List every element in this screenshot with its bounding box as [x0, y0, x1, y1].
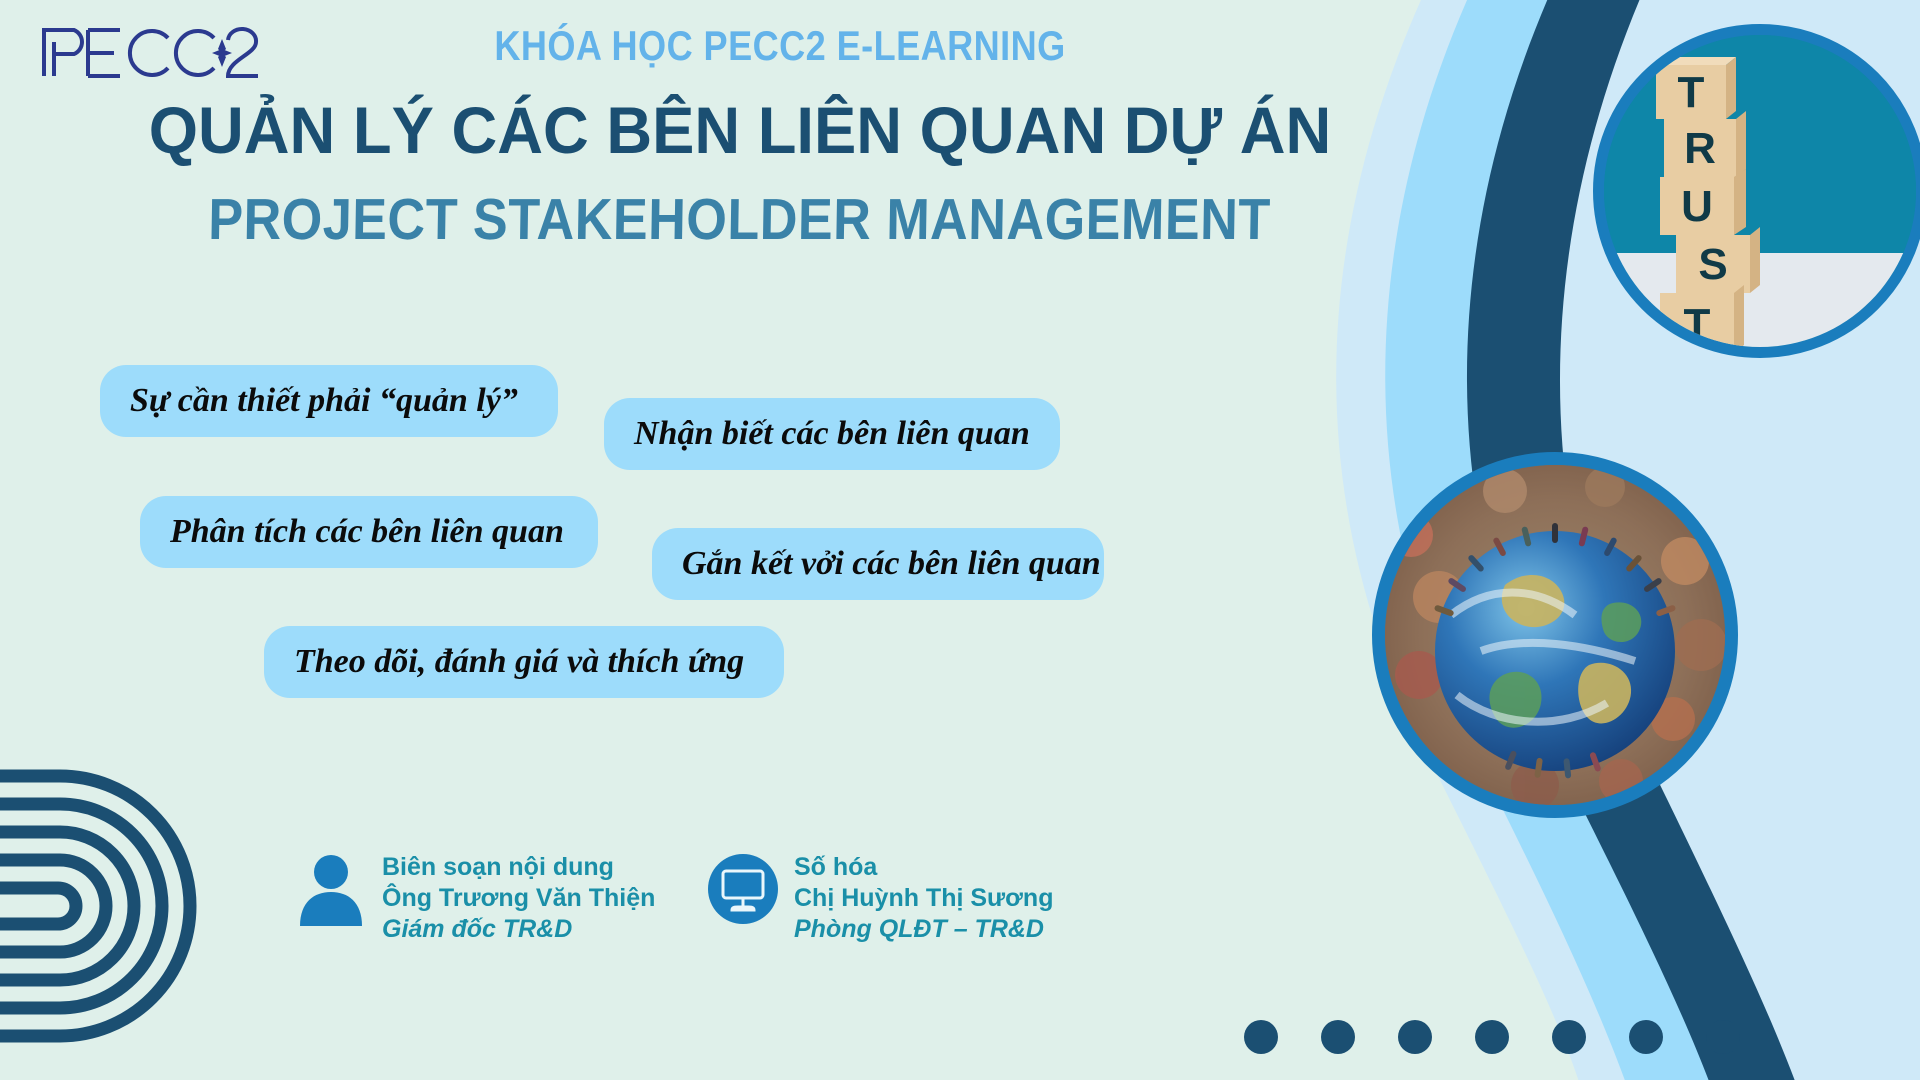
pecc2-logo	[36, 20, 266, 82]
topic-pill-monitor[interactable]: Theo dõi, đánh giá và thích ứng	[264, 626, 784, 698]
topic-pill-engage[interactable]: Gắn kết vởi các bên liên quan	[652, 528, 1104, 600]
topic-pill-label: Nhận biết các bên liên quan	[634, 415, 1030, 453]
topic-pill-label: Sự cần thiết phải “quản lý”	[130, 382, 518, 420]
trust-block-t2: T	[1660, 285, 1744, 347]
trust-block-s: S	[1676, 227, 1760, 293]
globe-surrounded-by-people-photo	[1372, 452, 1738, 818]
topic-pill-label: Theo dõi, đánh giá và thích ứng	[294, 643, 744, 681]
trust-block-u: U	[1660, 169, 1746, 235]
trust-wooden-blocks-photo: T R U S	[1593, 24, 1920, 358]
credit-name: Ông Trương Văn Thiện	[382, 883, 655, 914]
decorative-dot	[1475, 1020, 1509, 1054]
four-point-star-icon	[212, 39, 232, 67]
credit-role: Số hóa	[794, 852, 1053, 883]
topic-pill-analyze[interactable]: Phân tích các bên liên quan	[140, 496, 598, 568]
trust-block-r: R	[1664, 111, 1746, 177]
slide-canvas: KHÓA HỌC PECC2 E-LEARNING QUẢN LÝ CÁC BÊ…	[0, 0, 1920, 1080]
svg-text:T: T	[1684, 300, 1711, 347]
credit-content-author: Biên soạn nội dung Ông Trương Văn Thiện …	[296, 852, 655, 945]
decorative-dot	[1398, 1020, 1432, 1054]
credit-digitization: Số hóa Chị Huỳnh Thị Sương Phòng QLĐT – …	[708, 852, 1053, 945]
svg-text:U: U	[1681, 182, 1713, 231]
person-icon	[296, 852, 366, 926]
topic-pill-identify[interactable]: Nhận biết các bên liên quan	[604, 398, 1060, 470]
credit-text-block: Số hóa Chị Huỳnh Thị Sương Phòng QLĐT – …	[794, 852, 1053, 945]
credit-department: Giám đốc TR&D	[382, 914, 655, 945]
monitor-icon	[708, 852, 778, 926]
topic-pill-label: Phân tích các bên liên quan	[170, 513, 564, 551]
bottom-dot-row	[1244, 1020, 1740, 1054]
page-title-vi: QUẢN LÝ CÁC BÊN LIÊN QUAN DỰ ÁN	[49, 92, 1431, 168]
credit-role: Biên soạn nội dung	[382, 852, 655, 883]
decorative-dot	[1706, 1020, 1740, 1054]
credit-department: Phòng QLĐT – TR&D	[794, 914, 1053, 945]
course-kicker: KHÓA HỌC PECC2 E-LEARNING	[453, 22, 1107, 70]
svg-text:T: T	[1678, 68, 1705, 117]
svg-text:S: S	[1698, 240, 1727, 289]
credit-text-block: Biên soạn nội dung Ông Trương Văn Thiện …	[382, 852, 655, 945]
topic-pill-necessity[interactable]: Sự cần thiết phải “quản lý”	[100, 365, 558, 437]
topic-pill-label: Gắn kết vởi các bên liên quan	[682, 545, 1101, 583]
decorative-dot	[1321, 1020, 1355, 1054]
page-title-en: PROJECT STAKEHOLDER MANAGEMENT	[91, 186, 1388, 253]
decorative-dot	[1552, 1020, 1586, 1054]
decorative-dot	[1244, 1020, 1278, 1054]
svg-text:R: R	[1684, 124, 1716, 173]
credit-name: Chị Huỳnh Thị Sương	[794, 883, 1053, 914]
decorative-dot	[1629, 1020, 1663, 1054]
trust-block-t: T	[1656, 57, 1736, 119]
concentric-rings-decoration	[0, 756, 232, 1056]
